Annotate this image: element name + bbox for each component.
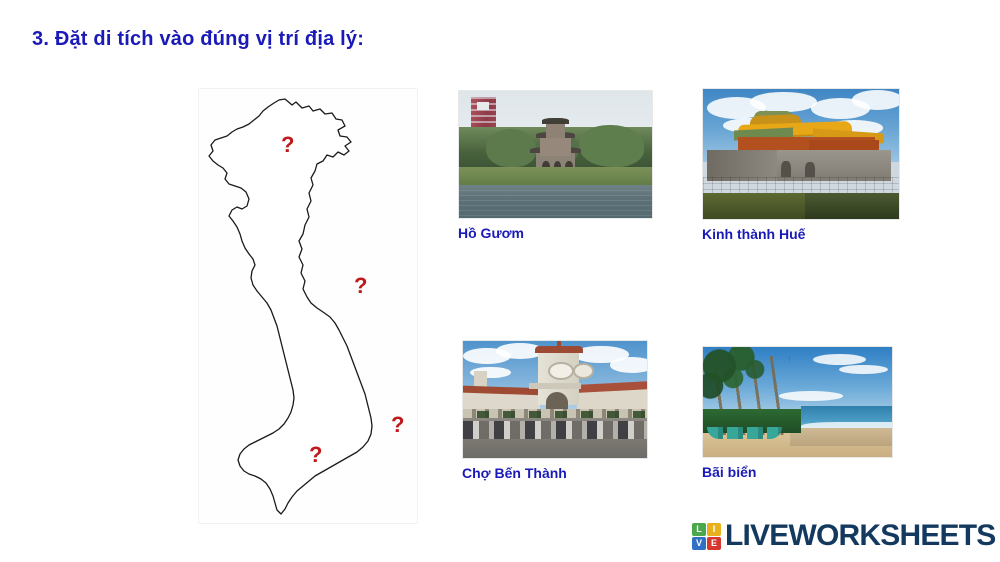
photo-card-kinh-thanh-hue[interactable]: Kinh thành Huế [702, 88, 900, 242]
outer-brick-wall [703, 177, 899, 194]
cloud [610, 357, 648, 372]
map-marker-central[interactable]: ? [354, 275, 367, 297]
tree-cluster [486, 129, 536, 167]
citadel-gate [805, 162, 815, 178]
photo-caption-bai-bien: Bãi biển [702, 465, 893, 480]
cloud [750, 92, 817, 113]
vietnam-outline-path [209, 99, 372, 514]
cloud [813, 354, 866, 365]
photo-image-cho-ben-thanh[interactable] [462, 340, 648, 459]
clock-face [573, 363, 594, 379]
clock-face [548, 362, 574, 380]
logo-letter-tiles: L I V E [692, 523, 721, 550]
fishing-boats [707, 427, 783, 439]
photo-card-ho-guom[interactable]: Hồ Gươm [458, 90, 653, 241]
cloud [852, 90, 900, 110]
photo-image-ho-guom[interactable] [458, 90, 653, 219]
photo-card-bai-bien[interactable]: Bãi biển [702, 346, 893, 480]
building-sign [477, 102, 489, 110]
turtle-tower-roof-upper [542, 118, 569, 124]
traffic-vehicles [463, 421, 647, 440]
photo-image-kinh-thanh-hue[interactable] [702, 88, 900, 220]
photo-caption-kinh-thanh-hue: Kinh thành Huế [702, 227, 900, 242]
scene-kinh-thanh-hue [703, 89, 899, 219]
logo-wordmark: LIVEWORKSHEETS [725, 521, 996, 551]
scene-bai-bien [703, 347, 892, 457]
turtle-tower-middle [540, 135, 571, 155]
page-title: 3. Đặt di tích vào đúng vị trí địa lý: [32, 28, 364, 51]
scene-ho-guom [459, 91, 652, 218]
map-marker-south[interactable]: ? [309, 444, 322, 466]
vietnam-map-panel: ? ? ? ? [198, 88, 418, 524]
map-marker-south-east[interactable]: ? [391, 414, 404, 436]
photo-caption-cho-ben-thanh: Chợ Bến Thành [462, 466, 648, 481]
photo-caption-ho-guom: Hồ Gươm [458, 226, 653, 241]
water-ripples [459, 190, 652, 219]
photo-card-cho-ben-thanh[interactable]: Chợ Bến Thành [462, 340, 648, 481]
clock-tower-spire [557, 341, 561, 347]
logo-tile-e: E [707, 537, 721, 550]
tree-cluster [579, 125, 645, 167]
wet-sand [790, 428, 892, 446]
logo-tile-i: I [707, 523, 721, 536]
citadel-gate [781, 161, 791, 178]
photo-image-bai-bien[interactable] [702, 346, 893, 458]
liveworksheets-logo[interactable]: L I V E LIVEWORKSHEETS [692, 518, 996, 554]
logo-tile-v: V [692, 537, 706, 550]
scene-cho-ben-thanh [463, 341, 647, 458]
vietnam-outline-map [199, 89, 417, 523]
logo-tile-l: L [692, 523, 706, 536]
map-marker-north[interactable]: ? [281, 134, 294, 156]
moat-water [805, 193, 899, 219]
market-name-sign [529, 383, 581, 389]
